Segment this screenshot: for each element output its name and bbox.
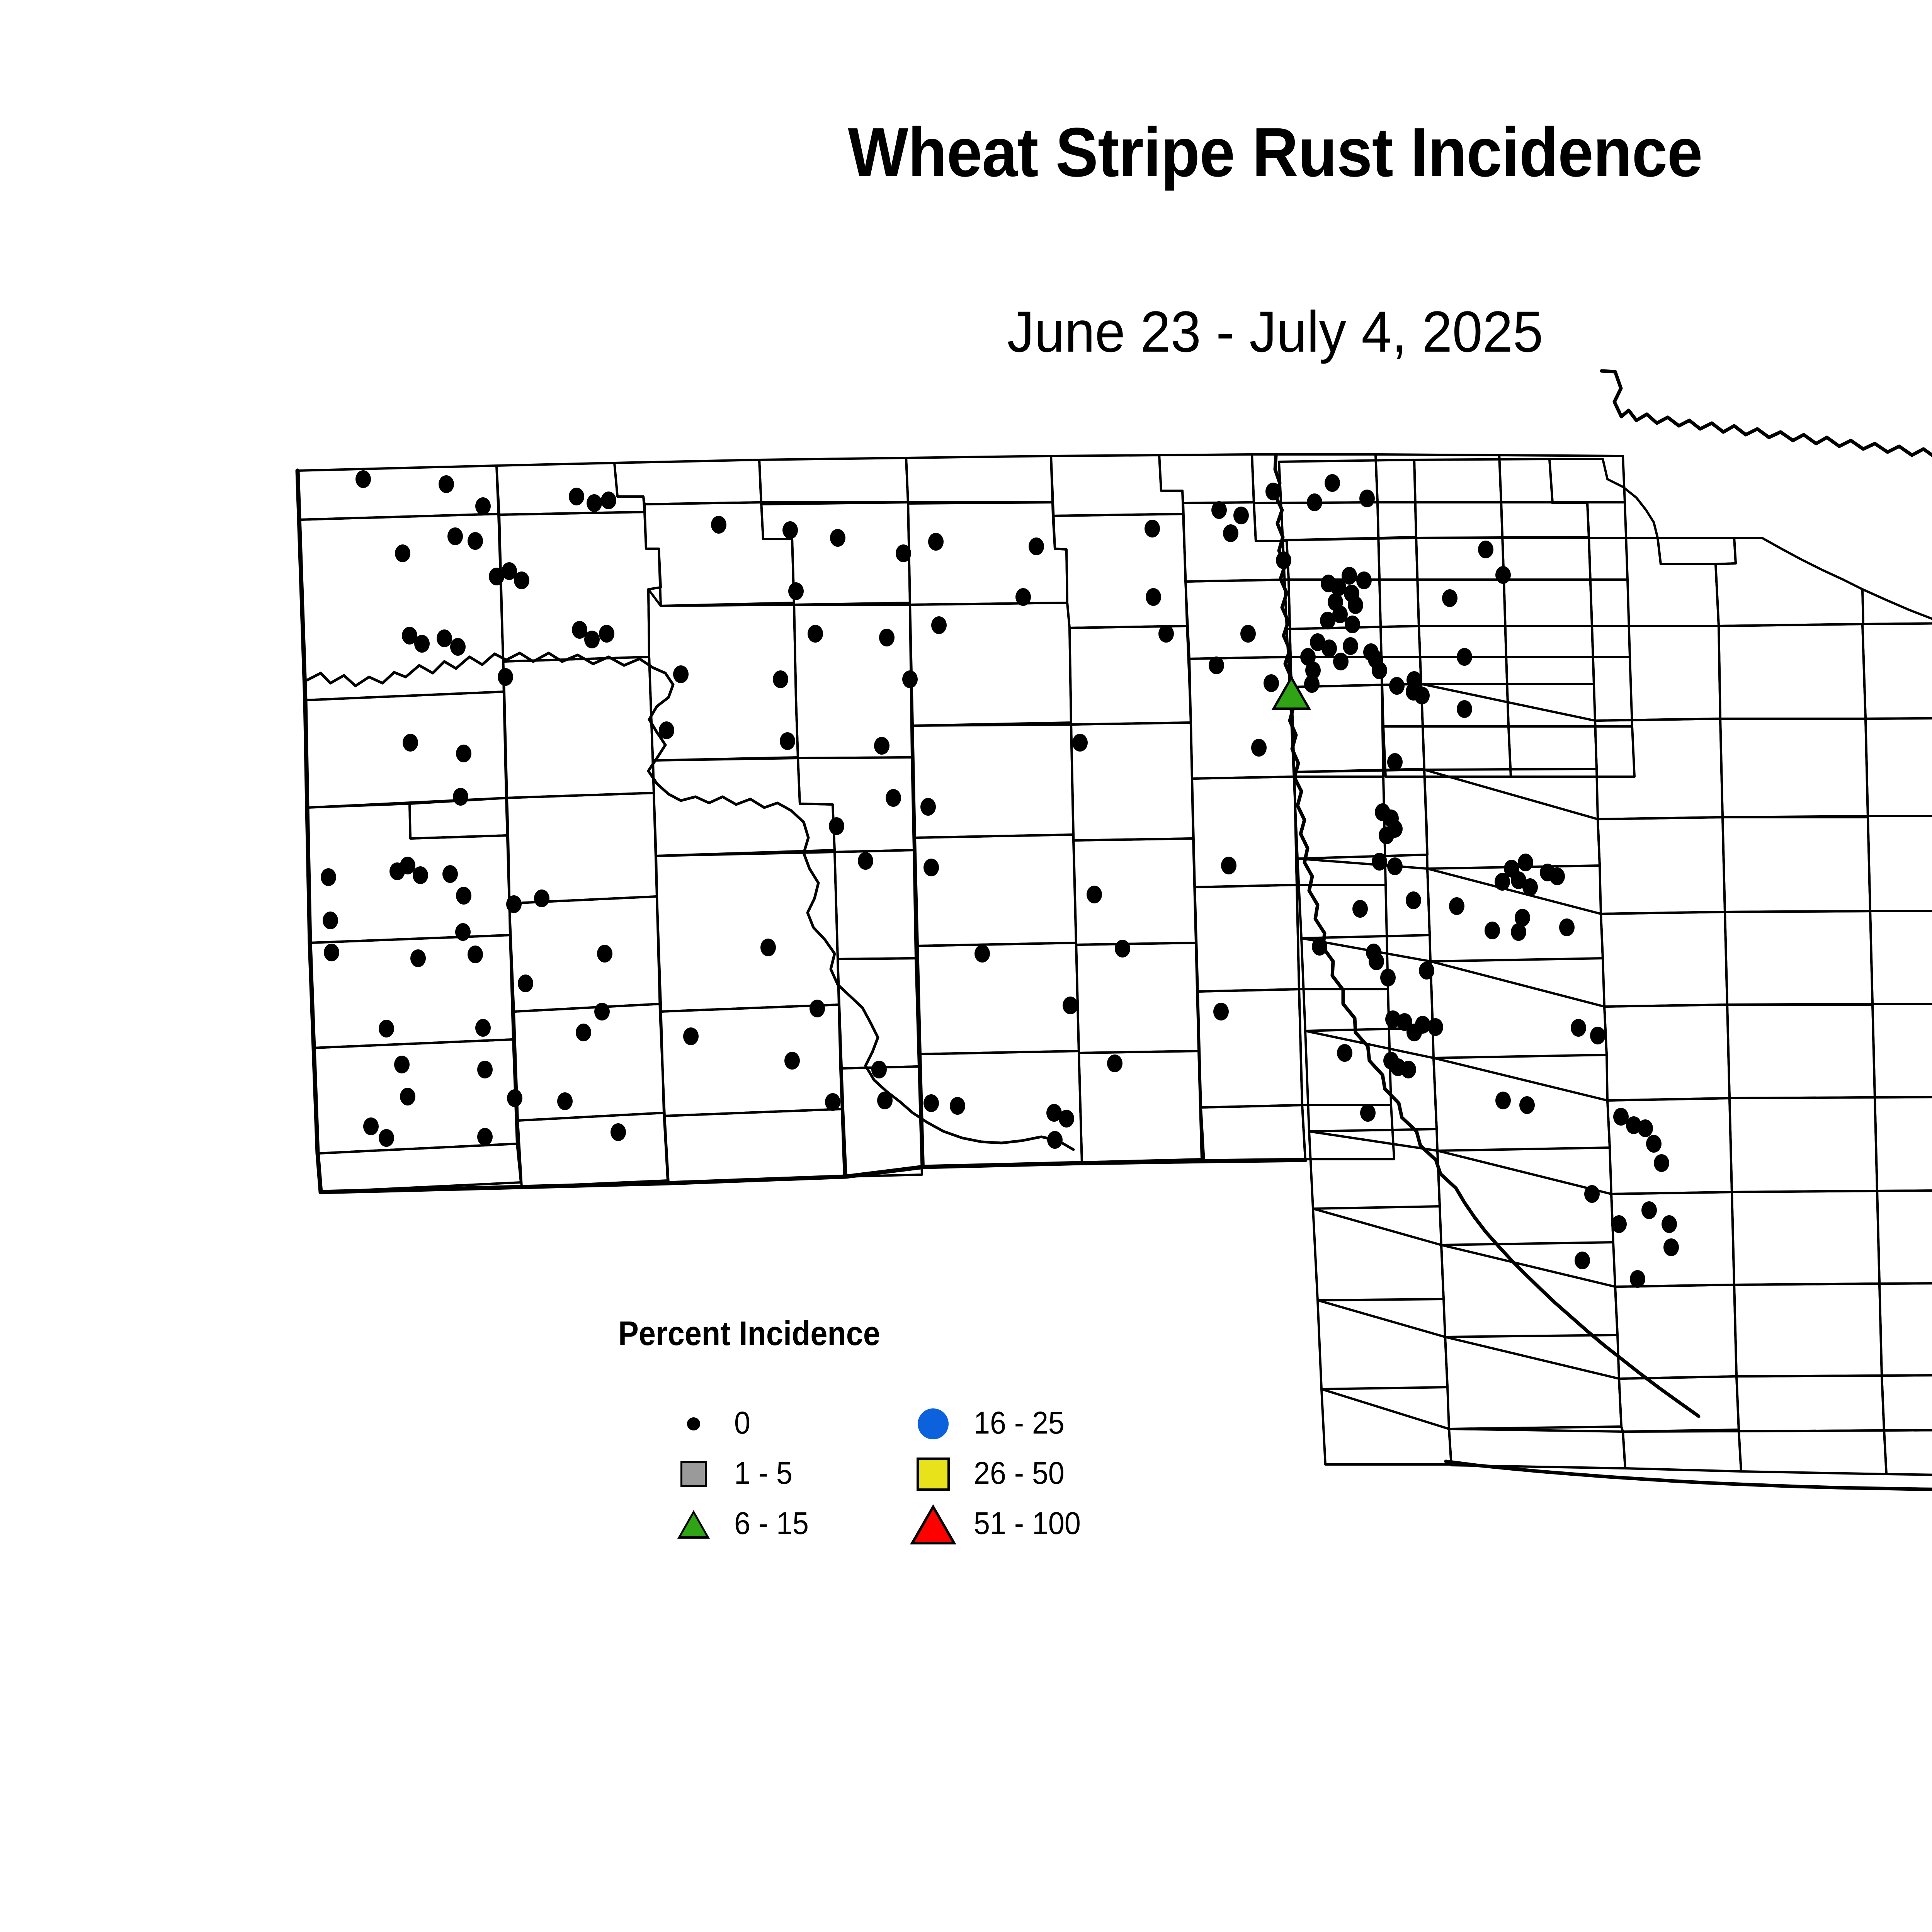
survey-point-zero[interactable] (1115, 940, 1130, 957)
survey-point-zero[interactable] (1518, 854, 1533, 871)
survey-point-zero[interactable] (1457, 648, 1472, 666)
survey-point-zero[interactable] (477, 1128, 493, 1146)
survey-point-zero[interactable] (1352, 900, 1368, 918)
survey-point-zero[interactable] (920, 798, 936, 816)
survey-point-zero[interactable] (1495, 873, 1510, 891)
survey-point-zero[interactable] (1379, 827, 1394, 844)
survey-point-zero[interactable] (475, 497, 491, 515)
survey-point-zero[interactable] (1333, 653, 1349, 670)
survey-point-zero[interactable] (437, 629, 452, 647)
survey-point-zero[interactable] (468, 946, 483, 963)
survey-point-zero[interactable] (506, 895, 522, 913)
survey-point-zero[interactable] (1240, 625, 1256, 643)
survey-point-zero[interactable] (1107, 1054, 1122, 1072)
yellow-square-icon (912, 1453, 954, 1495)
legend-item-26-50[interactable]: 26 - 50 (858, 1453, 1097, 1503)
survey-point-zero[interactable] (1406, 891, 1421, 909)
legend-label-0: 0 (734, 1405, 750, 1441)
survey-point-zero[interactable] (711, 516, 726, 534)
survey-point-zero[interactable] (877, 1092, 893, 1109)
survey-point-zero[interactable] (874, 737, 889, 755)
survey-point-zero[interactable] (475, 1019, 491, 1037)
survey-point-zero[interactable] (683, 1027, 699, 1045)
survey-point-zero[interactable] (456, 745, 471, 762)
survey-point-zero[interactable] (1307, 493, 1322, 511)
survey-point-zero[interactable] (442, 865, 458, 883)
survey-point-zero[interactable] (1575, 1252, 1590, 1269)
survey-point-zero[interactable] (1646, 1135, 1662, 1153)
survey-point-zero[interactable] (1519, 1096, 1535, 1114)
survey-point-zero[interactable] (1029, 537, 1044, 555)
survey-point-zero[interactable] (1495, 1092, 1511, 1109)
survey-point-zero[interactable] (1571, 1019, 1586, 1037)
survey-point-zero[interactable] (1158, 625, 1174, 643)
survey-point-zero[interactable] (403, 734, 418, 752)
survey-point-zero[interactable] (557, 1092, 573, 1110)
survey-point-zero[interactable] (780, 732, 795, 750)
survey-point-zero[interactable] (1047, 1131, 1063, 1149)
survey-point-zero[interactable] (923, 859, 939, 876)
survey-point-zero[interactable] (413, 866, 428, 884)
survey-point-zero[interactable] (379, 1020, 394, 1037)
survey-point-zero[interactable] (1442, 589, 1458, 607)
survey-point-zero[interactable] (1211, 501, 1227, 519)
survey-point-zero[interactable] (324, 944, 339, 961)
survey-point-zero[interactable] (1495, 566, 1511, 584)
survey-point-zero[interactable] (1638, 1119, 1653, 1137)
survey-point-zero[interactable] (456, 887, 471, 905)
survey-point-zero[interactable] (1343, 637, 1358, 655)
survey-point-zero[interactable] (379, 1129, 394, 1147)
survey-point-zero[interactable] (584, 631, 600, 648)
survey-point-zero[interactable] (1312, 938, 1327, 956)
survey-point-zero[interactable] (950, 1097, 965, 1115)
survey-point-zero[interactable] (928, 533, 944, 551)
red-triangle-icon (912, 1503, 954, 1546)
survey-point-zero[interactable] (1511, 923, 1526, 941)
survey-point-zero[interactable] (829, 817, 844, 835)
survey-point-zero[interactable] (498, 668, 513, 686)
legend-label-1-5: 1 - 5 (734, 1455, 793, 1492)
survey-point-zero[interactable] (1221, 857, 1236, 874)
legend-item-6-15[interactable]: 6 - 15 (618, 1503, 858, 1553)
survey-point-zero[interactable] (1360, 1104, 1376, 1122)
survey-point-zero[interactable] (659, 721, 674, 739)
survey-point-zero[interactable] (1584, 1185, 1600, 1203)
survey-point-zero[interactable] (1015, 588, 1031, 606)
legend-title: Percent Incidence (618, 1314, 880, 1353)
survey-point-zero[interactable] (902, 670, 918, 688)
survey-point-zero[interactable] (673, 665, 689, 683)
legend-column-left: 0 1 - 5 6 - 15 (618, 1403, 858, 1553)
survey-point-zero[interactable] (1337, 1044, 1352, 1062)
survey-point-zero[interactable] (1146, 588, 1161, 606)
survey-point-zero[interactable] (879, 629, 895, 646)
survey-point-zero[interactable] (599, 625, 614, 643)
survey-point-zero[interactable] (477, 1061, 493, 1078)
survey-point-zero[interactable] (1611, 1215, 1627, 1233)
survey-point-zero[interactable] (760, 939, 776, 956)
survey-point-zero[interactable] (1087, 886, 1102, 903)
survey-point-zero[interactable] (858, 852, 873, 870)
survey-point-zero[interactable] (1213, 1003, 1229, 1020)
survey-point-zero[interactable] (355, 470, 371, 488)
survey-point-zero[interactable] (1380, 969, 1396, 986)
survey-point-zero[interactable] (1485, 922, 1500, 939)
survey-point-zero[interactable] (1359, 490, 1375, 507)
survey-point-zero[interactable] (1387, 753, 1403, 771)
survey-point-zero[interactable] (1276, 551, 1291, 569)
survey-point-zero[interactable] (1342, 567, 1357, 585)
survey-point-zero[interactable] (1345, 616, 1360, 633)
blue-circle-icon (912, 1403, 954, 1445)
survey-point-zero[interactable] (1059, 1110, 1074, 1128)
survey-point-zero[interactable] (569, 488, 584, 505)
green-triangle-icon (672, 1503, 715, 1546)
survey-point-zero[interactable] (450, 638, 466, 656)
survey-point-zero[interactable] (400, 1088, 415, 1105)
survey-point-zero[interactable] (1663, 1238, 1679, 1256)
legend-item-0[interactable]: 0 (618, 1403, 858, 1453)
survey-point-zero[interactable] (1406, 1024, 1422, 1041)
gray-square-icon (672, 1453, 715, 1495)
survey-point-zero[interactable] (514, 571, 529, 589)
survey-point-zero[interactable] (1265, 483, 1281, 500)
survey-point-zero[interactable] (1325, 474, 1340, 492)
survey-point-zero[interactable] (808, 625, 823, 643)
survey-point-zero[interactable] (1251, 739, 1267, 757)
survey-point-zero[interactable] (1264, 674, 1279, 692)
survey-point-zero[interactable] (886, 789, 901, 807)
survey-point-zero[interactable] (447, 527, 463, 545)
legend-item-16-25[interactable]: 16 - 25 (858, 1403, 1097, 1453)
survey-point-zero[interactable] (597, 945, 612, 963)
survey-point-zero[interactable] (1662, 1215, 1677, 1233)
map-canvas[interactable] (0, 0, 1932, 1932)
survey-point-zero[interactable] (1449, 897, 1464, 915)
survey-point-zero[interactable] (363, 1117, 379, 1135)
survey-point-zero[interactable] (1419, 962, 1434, 980)
survey-point-zero[interactable] (1457, 700, 1472, 718)
survey-point-zero[interactable] (1654, 1154, 1669, 1172)
legend-label-16-25: 16 - 25 (974, 1405, 1065, 1441)
survey-point-zero[interactable] (1072, 734, 1088, 752)
survey-point-zero[interactable] (468, 532, 483, 550)
survey-point-zero[interactable] (782, 521, 798, 539)
legend: Percent Incidence 0 1 - 5 6 - 15 (618, 1314, 1159, 1584)
survey-point-zero[interactable] (1145, 520, 1160, 537)
survey-point-zero[interactable] (1372, 853, 1387, 871)
survey-point-zero[interactable] (830, 529, 845, 547)
survey-point-zero[interactable] (439, 475, 454, 493)
survey-point-zero[interactable] (410, 949, 426, 967)
survey-point-zero[interactable] (810, 1000, 825, 1017)
survey-point-zero[interactable] (1387, 857, 1403, 875)
survey-point-zero[interactable] (1372, 662, 1387, 679)
survey-point-zero[interactable] (611, 1123, 626, 1141)
survey-point-zero[interactable] (321, 868, 336, 886)
survey-point-zero[interactable] (1321, 639, 1337, 657)
survey-point-zero[interactable] (871, 1061, 887, 1078)
survey-point-zero[interactable] (1233, 507, 1249, 524)
survey-point-zero[interactable] (1063, 997, 1078, 1014)
survey-point-zero[interactable] (1630, 1270, 1645, 1288)
survey-point-zero[interactable] (1478, 541, 1493, 558)
survey-point-zero[interactable] (784, 1052, 800, 1070)
survey-point-zero[interactable] (788, 582, 804, 600)
survey-point-zero[interactable] (1304, 675, 1320, 693)
survey-point-zero[interactable] (394, 1056, 410, 1073)
survey-point-zero[interactable] (1223, 524, 1238, 542)
survey-point-zero[interactable] (1356, 571, 1372, 589)
small-black-dot-icon (672, 1403, 715, 1445)
survey-point-zero[interactable] (923, 1094, 939, 1112)
survey-point-zero[interactable] (1414, 687, 1430, 704)
survey-point-zero[interactable] (825, 1093, 840, 1111)
survey-point-zero[interactable] (896, 544, 911, 562)
legend-column-right: 16 - 25 26 - 50 51 - 100 (858, 1403, 1097, 1553)
legend-item-1-5[interactable]: 1 - 5 (618, 1453, 858, 1503)
survey-point-zero[interactable] (1428, 1018, 1443, 1036)
survey-point-zero[interactable] (453, 788, 468, 806)
survey-point-zero[interactable] (587, 494, 602, 512)
survey-point-zero[interactable] (601, 492, 616, 509)
legend-label-26-50: 26 - 50 (974, 1455, 1065, 1492)
survey-point-zero[interactable] (1389, 677, 1405, 695)
survey-point-zero[interactable] (400, 857, 415, 874)
legend-label-6-15: 6 - 15 (734, 1505, 809, 1542)
survey-point-zero[interactable] (507, 1089, 522, 1107)
survey-point-zero[interactable] (975, 945, 990, 963)
survey-point-zero[interactable] (1641, 1201, 1657, 1219)
survey-point-zero[interactable] (1590, 1027, 1605, 1044)
survey-point-zero[interactable] (534, 889, 549, 907)
survey-point-zero[interactable] (576, 1024, 591, 1041)
survey-point-zero[interactable] (518, 975, 533, 992)
survey-point-zero[interactable] (1209, 656, 1224, 674)
survey-point-zero[interactable] (414, 635, 430, 653)
survey-point-zero[interactable] (1559, 918, 1575, 936)
survey-point-zero[interactable] (1369, 952, 1384, 970)
survey-point-zero[interactable] (1348, 596, 1363, 614)
survey-point-zero[interactable] (1401, 1061, 1416, 1078)
survey-point-zero[interactable] (323, 912, 338, 929)
survey-point-zero[interactable] (1522, 878, 1538, 896)
survey-point-zero[interactable] (931, 616, 947, 634)
survey-point-zero[interactable] (773, 670, 788, 688)
survey-point-zero[interactable] (1549, 867, 1565, 885)
legend-item-51-100[interactable]: 51 - 100 (858, 1503, 1097, 1553)
survey-point-zero[interactable] (1320, 612, 1335, 629)
legend-label-51-100: 51 - 100 (974, 1505, 1081, 1542)
survey-point-zero[interactable] (395, 544, 410, 562)
survey-point-zero[interactable] (455, 923, 471, 941)
survey-point-zero[interactable] (594, 1003, 610, 1020)
